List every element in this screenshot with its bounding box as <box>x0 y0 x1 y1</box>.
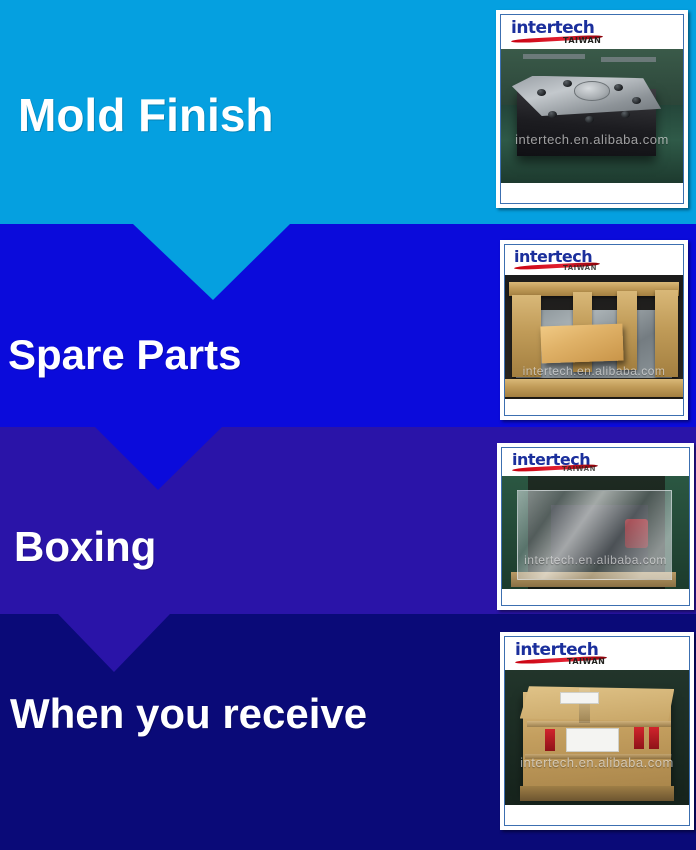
photo-scene-when-you-receive: intertech.en.alibaba.com <box>505 670 689 805</box>
photo-card-mold-finish[interactable]: intertech TAIWAN intertech.en.alib <box>496 10 688 208</box>
crate-plank <box>512 295 540 377</box>
mold-bolt <box>548 111 557 118</box>
step-label-when-you-receive: When you receive <box>10 690 367 738</box>
mold-sprue-disc <box>574 81 611 100</box>
intertech-taiwan-subtext: TAIWAN <box>562 465 596 473</box>
mold-bolt <box>585 116 594 123</box>
spare-parts-carton <box>540 323 623 363</box>
brand-logo-strip-2: intertech TAIWAN <box>505 245 683 275</box>
step-label-spare-parts: Spare Parts <box>8 331 241 379</box>
crate-slat <box>525 754 672 759</box>
mold-bolt <box>621 111 630 118</box>
fragile-tag-icon <box>545 729 555 751</box>
photo-bottom-strip-4 <box>505 805 689 825</box>
crate-shipping-label <box>560 692 599 705</box>
brand-logo-strip-4: intertech TAIWAN <box>505 637 689 670</box>
process-infographic: When you receive Boxing Spare Parts Mold… <box>0 0 696 850</box>
crate-plank <box>505 379 683 396</box>
photo-card-boxing[interactable]: intertech TAIWAN intertech.en.alibaba.co… <box>497 443 694 610</box>
photo-frame-spare-parts: intertech TAIWAN intertech.en.alibaba.co… <box>504 244 684 416</box>
mold-bolt <box>563 80 572 87</box>
scene-rail <box>523 54 585 59</box>
photo-bottom-strip-2 <box>505 399 683 415</box>
intertech-taiwan-subtext: TAIWAN <box>563 264 597 272</box>
scene-rail <box>601 57 656 62</box>
crate-plank <box>655 290 678 377</box>
mold-bolt <box>614 84 623 91</box>
photo-scene-boxing: intertech.en.alibaba.com <box>502 476 689 589</box>
intertech-taiwan-subtext: TAIWAN <box>563 36 601 45</box>
photo-bottom-strip-3 <box>502 589 689 605</box>
fragile-tag-icon <box>649 727 659 749</box>
brand-logo-strip-1: intertech TAIWAN <box>501 15 683 49</box>
plastic-shrink-film <box>517 490 672 580</box>
fragile-tag-icon <box>634 727 644 749</box>
photo-frame-boxing: intertech TAIWAN intertech.en.alibaba.co… <box>501 447 690 606</box>
crate-base-skid <box>520 786 675 801</box>
photo-card-spare-parts[interactable]: intertech TAIWAN intertech.en.alibaba.co… <box>500 240 688 420</box>
photo-frame-mold-finish: intertech TAIWAN intertech.en.alib <box>500 14 684 204</box>
photo-scene-mold-finish: intertech.en.alibaba.com <box>501 49 683 183</box>
crate-shipping-label <box>566 728 620 752</box>
intertech-taiwan-subtext: TAIWAN <box>567 657 605 666</box>
step-label-mold-finish: Mold Finish <box>18 88 274 142</box>
photo-scene-spare-parts: intertech.en.alibaba.com <box>505 275 683 399</box>
step-label-boxing: Boxing <box>14 523 156 571</box>
brand-logo-strip-3: intertech TAIWAN <box>502 448 689 476</box>
photo-bottom-strip-1 <box>501 183 683 203</box>
photo-card-when-you-receive[interactable]: intertech TAIWAN intertech.en.alibaba.co… <box>500 632 694 830</box>
photo-frame-when-you-receive: intertech TAIWAN intertech.en.alibaba.co… <box>504 636 690 826</box>
